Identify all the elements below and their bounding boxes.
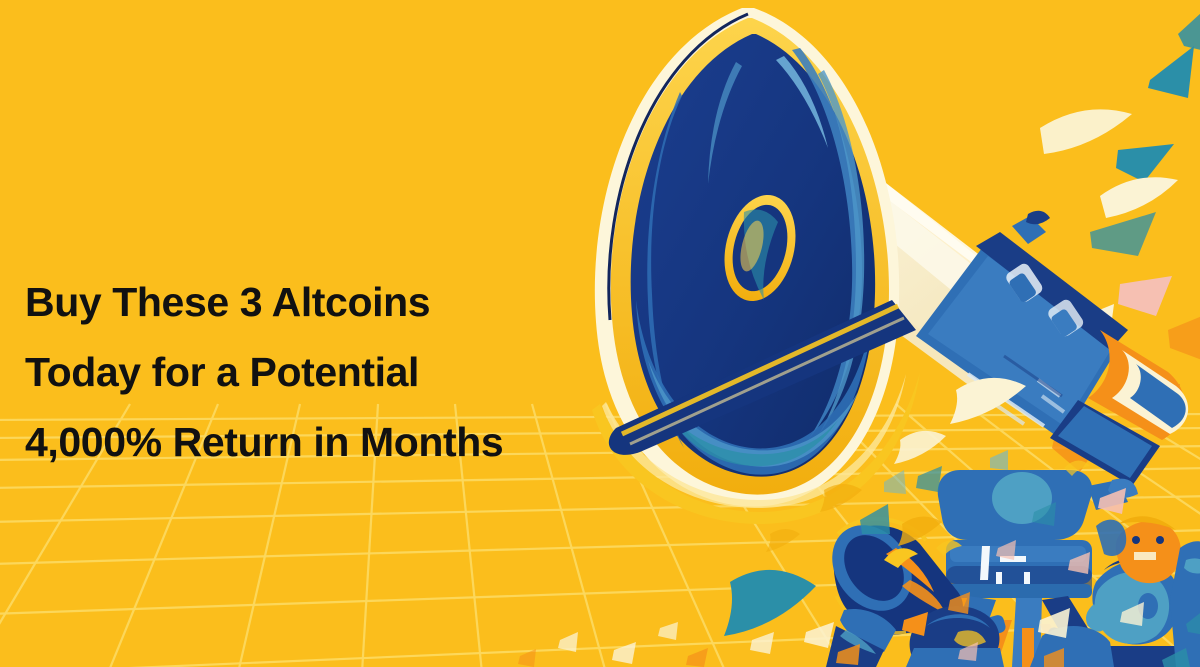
page-title: Buy These 3 Altcoins Today for a Potenti… — [25, 267, 645, 477]
headline-line-3: 4,000% Return in Months — [25, 407, 645, 477]
banner-image: Buy These 3 Altcoins Today for a Potenti… — [0, 0, 1200, 667]
headline-line-1: Buy These 3 Altcoins — [25, 267, 645, 337]
headline-line-2: Today for a Potential — [25, 337, 645, 407]
confetti-group-left — [518, 632, 578, 667]
